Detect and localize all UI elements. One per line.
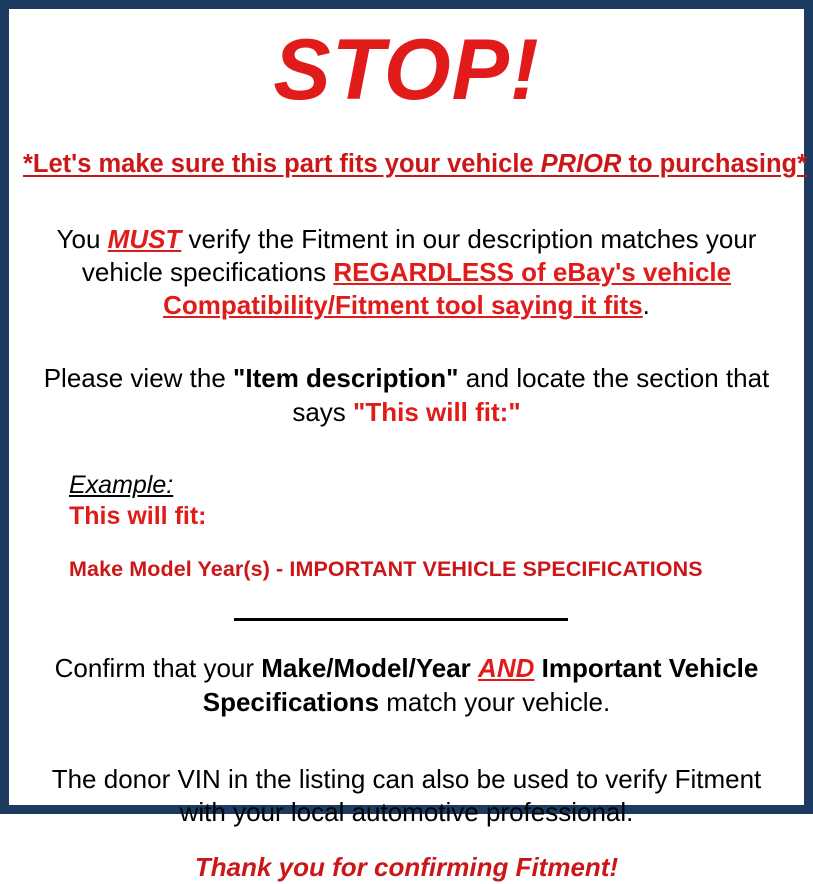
paragraph-confirm: Confirm that your Make/Model/Year AND Im… [23,652,790,719]
itemdesc-emphasis-quote: "Item description" [233,363,458,393]
subtitle-emphasis-prior: PRIOR [541,150,622,178]
confirm-text-part4: match your vehicle. [379,687,610,717]
horizontal-divider [234,618,568,621]
page-title: STOP! [23,27,790,115]
must-emphasis: MUST [108,224,182,254]
fitment-notice-card: STOP! *Let's make sure this part fits yo… [0,0,813,814]
paragraph-item-description: Please view the "Item description" and l… [23,362,790,429]
example-this-will-fit: This will fit: [69,501,790,531]
confirm-text-part3 [534,653,541,683]
example-label: Example: [69,471,790,501]
example-block: Example: This will fit: Make Model Year(… [23,471,790,583]
subtitle-text-after: to purchasing* [621,150,807,178]
this-will-fit-quote: "This will fit:" [353,397,521,427]
notice-content: STOP! *Let's make sure this part fits yo… [9,9,804,805]
confirm-emphasis-and: AND [478,653,534,683]
subtitle-text-before: *Let's make sure this part fits your veh… [23,150,541,178]
divider-wrapper [23,608,790,622]
notice-subtitle: *Let's make sure this part fits your veh… [23,149,790,181]
confirm-text-part2 [471,653,478,683]
itemdesc-text-part1: Please view the [44,363,233,393]
must-text-part3: . [643,290,650,320]
must-text-part1: You [57,224,108,254]
confirm-emphasis-mmy: Make/Model/Year [261,653,471,683]
thanks-message: Thank you for confirming Fitment! [23,851,790,884]
confirm-text-part1: Confirm that your [55,653,262,683]
paragraph-donor-vin: The donor VIN in the listing can also be… [23,763,790,830]
example-spec-line: Make Model Year(s) - IMPORTANT VEHICLE S… [69,557,790,582]
paragraph-must-verify: You MUST verify the Fitment in our descr… [23,223,790,323]
